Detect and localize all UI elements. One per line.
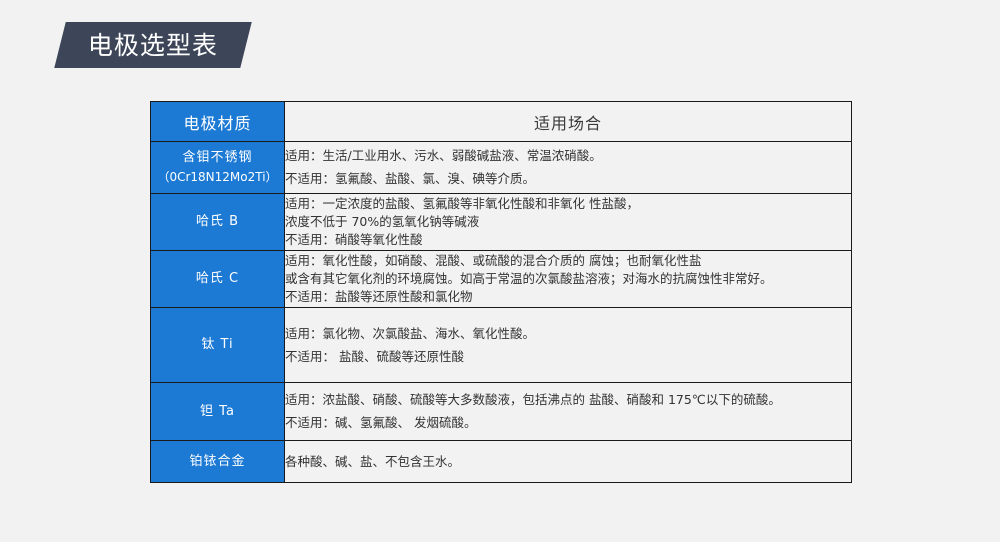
- material-name: 钽 Ta: [151, 402, 284, 422]
- usage-line: 或含有其它氧化剂的环境腐蚀。如高于常温的次氯酸盐溶液；对海水的抗腐蚀性非常好。: [285, 270, 851, 288]
- page-title: 电极选型表: [88, 33, 218, 58]
- material-cell: 哈氏 B: [151, 194, 285, 251]
- material-name: 哈氏 B: [151, 212, 284, 232]
- usage-line: 不适用： 盐酸、硫酸等还原性酸: [285, 348, 851, 366]
- column-header-material: 电极材质: [151, 102, 285, 142]
- usage-cell: 适用：一定浓度的盐酸、氢氟酸等非氧化性酸和非氧化 性盐酸， 浓度不低于 70%的…: [285, 194, 852, 251]
- table-row: 钛 Ti 适用：氯化物、次氯酸盐、海水、氧化性酸。 不适用： 盐酸、硫酸等还原性…: [151, 308, 852, 383]
- material-cell: 含钼不锈钢 （0Cr18N12Mo2Ti）: [151, 142, 285, 194]
- table-row: 哈氏 B 适用：一定浓度的盐酸、氢氟酸等非氧化性酸和非氧化 性盐酸， 浓度不低于…: [151, 194, 852, 251]
- usage-cell: 适用：氯化物、次氯酸盐、海水、氧化性酸。 不适用： 盐酸、硫酸等还原性酸: [285, 308, 852, 383]
- table-row: 哈氏 C 适用：氧化性酸，如硝酸、混酸、或硫酸的混合介质的 腐蚀；也耐氧化性盐 …: [151, 251, 852, 308]
- material-name: 钛 Ti: [151, 335, 284, 355]
- column-header-usage: 适用场合: [285, 102, 852, 142]
- material-name: 铂铱合金: [151, 452, 284, 472]
- usage-line: 不适用：氢氟酸、盐酸、氯、溴、碘等介质。: [285, 170, 851, 188]
- usage-line: 适用：生活/工业用水、污水、弱酸碱盐液、常温浓硝酸。: [285, 147, 851, 165]
- material-cell: 哈氏 C: [151, 251, 285, 308]
- table-row: 含钼不锈钢 （0Cr18N12Mo2Ti） 适用：生活/工业用水、污水、弱酸碱盐…: [151, 142, 852, 194]
- page-title-banner: 电极选型表: [54, 22, 251, 68]
- usage-line: 适用：浓盐酸、硝酸、硫酸等大多数酸液，包括沸点的 盐酸、硝酸和 175℃以下的硫…: [285, 391, 851, 409]
- usage-cell: 适用：浓盐酸、硝酸、硫酸等大多数酸液，包括沸点的 盐酸、硝酸和 175℃以下的硫…: [285, 383, 852, 441]
- material-cell: 铂铱合金: [151, 441, 285, 483]
- usage-line: 不适用：碱、氢氟酸、 发烟硫酸。: [285, 414, 851, 432]
- material-cell: 钛 Ti: [151, 308, 285, 383]
- table-header-row: 电极材质 适用场合: [151, 102, 852, 142]
- electrode-selection-table: 电极材质 适用场合 含钼不锈钢 （0Cr18N12Mo2Ti） 适用：生活/工业…: [150, 101, 852, 483]
- material-code: （0Cr18N12Mo2Ti）: [151, 168, 284, 187]
- table-row: 钽 Ta 适用：浓盐酸、硝酸、硫酸等大多数酸液，包括沸点的 盐酸、硝酸和 175…: [151, 383, 852, 441]
- usage-line: 适用：氧化性酸，如硝酸、混酸、或硫酸的混合介质的 腐蚀；也耐氧化性盐: [285, 252, 851, 270]
- usage-line: 各种酸、碱、盐、不包含王水。: [285, 453, 851, 471]
- usage-line: 适用：氯化物、次氯酸盐、海水、氧化性酸。: [285, 325, 851, 343]
- table-row: 铂铱合金 各种酸、碱、盐、不包含王水。: [151, 441, 852, 483]
- usage-line: 适用：一定浓度的盐酸、氢氟酸等非氧化性酸和非氧化 性盐酸，: [285, 195, 851, 213]
- usage-line: 不适用：盐酸等还原性酸和氯化物: [285, 288, 851, 306]
- usage-cell: 适用：氧化性酸，如硝酸、混酸、或硫酸的混合介质的 腐蚀；也耐氧化性盐 或含有其它…: [285, 251, 852, 308]
- usage-cell: 适用：生活/工业用水、污水、弱酸碱盐液、常温浓硝酸。 不适用：氢氟酸、盐酸、氯、…: [285, 142, 852, 194]
- material-cell: 钽 Ta: [151, 383, 285, 441]
- usage-line: 浓度不低于 70%的氢氧化钠等碱液: [285, 213, 851, 231]
- usage-line: 不适用：硝酸等氧化性酸: [285, 231, 851, 249]
- material-name: 哈氏 C: [151, 269, 284, 289]
- material-name: 含钼不锈钢: [151, 148, 284, 168]
- usage-cell: 各种酸、碱、盐、不包含王水。: [285, 441, 852, 483]
